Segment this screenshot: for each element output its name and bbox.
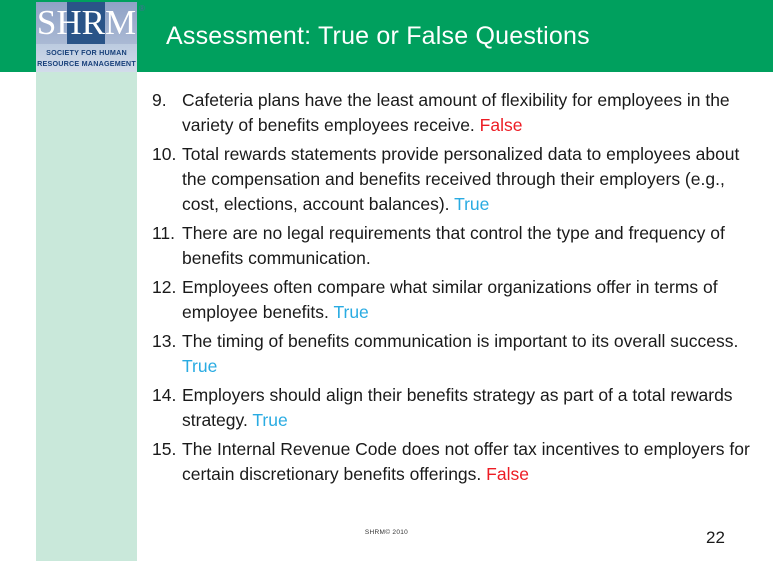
slide-canvas: SHRM SOCIETY FOR HUMANRESOURCE MANAGEMEN… [0, 0, 773, 561]
question-item: 13.The timing of benefits communication … [152, 329, 752, 379]
page-number: 22 [706, 528, 725, 548]
question-item: 12.Employees often compare what similar … [152, 275, 752, 325]
slide-title: Assessment: True or False Questions [166, 22, 590, 51]
question-number: 15. [152, 437, 182, 462]
question-number: 9. [152, 88, 182, 113]
answer-label: True [182, 356, 217, 376]
answer-label: True [454, 194, 489, 214]
logo-mark: SHRM [36, 2, 137, 44]
question-body: Employers should align their benefits st… [182, 383, 752, 433]
logo-tagline-line1: SOCIETY FOR HUMAN [46, 48, 127, 57]
logo-tagline-line2: RESOURCE MANAGEMENT [37, 59, 136, 68]
question-item: 9.Cafeteria plans have the least amount … [152, 88, 752, 138]
question-item: 15.The Internal Revenue Code does not of… [152, 437, 752, 487]
question-text: There are no legal requirements that con… [182, 223, 725, 268]
logo-letters: SHRM [36, 2, 137, 44]
question-body: Employees often compare what similar org… [182, 275, 752, 325]
question-text: The Internal Revenue Code does not offer… [182, 439, 750, 484]
answer-label: False [480, 115, 523, 135]
question-item: 14.Employers should align their benefits… [152, 383, 752, 433]
question-body: The timing of benefits communication is … [182, 329, 752, 379]
question-list: 9.Cafeteria plans have the least amount … [152, 88, 752, 491]
question-body: The Internal Revenue Code does not offer… [182, 437, 752, 487]
question-item: 11.There are no legal requirements that … [152, 221, 752, 271]
question-body: Cafeteria plans have the least amount of… [182, 88, 752, 138]
footer-copyright: SHRM© 2010 [0, 529, 773, 536]
registered-trademark-icon: ® [139, 4, 145, 13]
question-number: 13. [152, 329, 182, 354]
question-number: 14. [152, 383, 182, 408]
question-number: 12. [152, 275, 182, 300]
left-accent-band [36, 72, 137, 561]
question-body: There are no legal requirements that con… [182, 221, 752, 271]
answer-label: True [333, 302, 368, 322]
question-text: Employees often compare what similar org… [182, 277, 718, 322]
question-body: Total rewards statements provide persona… [182, 142, 752, 217]
shrm-logo: SHRM SOCIETY FOR HUMANRESOURCE MANAGEMEN… [36, 2, 137, 72]
answer-label: True [252, 410, 287, 430]
question-item: 10.Total rewards statements provide pers… [152, 142, 752, 217]
question-text: The timing of benefits communication is … [182, 331, 738, 351]
question-number: 10. [152, 142, 182, 167]
answer-label: False [486, 464, 529, 484]
question-number: 11. [152, 221, 182, 246]
question-text: Cafeteria plans have the least amount of… [182, 90, 730, 135]
logo-tagline: SOCIETY FOR HUMANRESOURCE MANAGEMENT [36, 44, 137, 72]
